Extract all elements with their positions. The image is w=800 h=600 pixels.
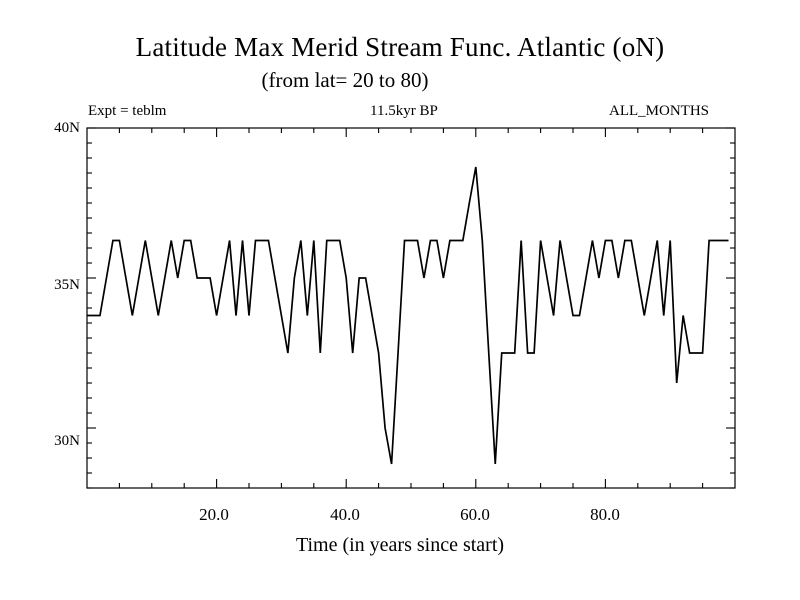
ytick-label-40n: 40N bbox=[24, 120, 80, 137]
plot-canvas bbox=[0, 0, 800, 600]
xtick-label-40: 40.0 bbox=[305, 505, 385, 525]
ytick-label-35n: 35N bbox=[24, 277, 80, 294]
plot-frame bbox=[87, 128, 735, 488]
ytick-label-30n: 30N bbox=[24, 433, 80, 450]
figure-root: Latitude Max Merid Stream Func. Atlantic… bbox=[0, 0, 800, 600]
xtick-label-20: 20.0 bbox=[174, 505, 254, 525]
data-series-0 bbox=[87, 167, 729, 464]
x-axis-title: Time (in years since start) bbox=[0, 534, 800, 557]
xtick-label-80: 80.0 bbox=[565, 505, 645, 525]
xtick-label-60: 60.0 bbox=[435, 505, 515, 525]
plot-area bbox=[0, 0, 800, 600]
